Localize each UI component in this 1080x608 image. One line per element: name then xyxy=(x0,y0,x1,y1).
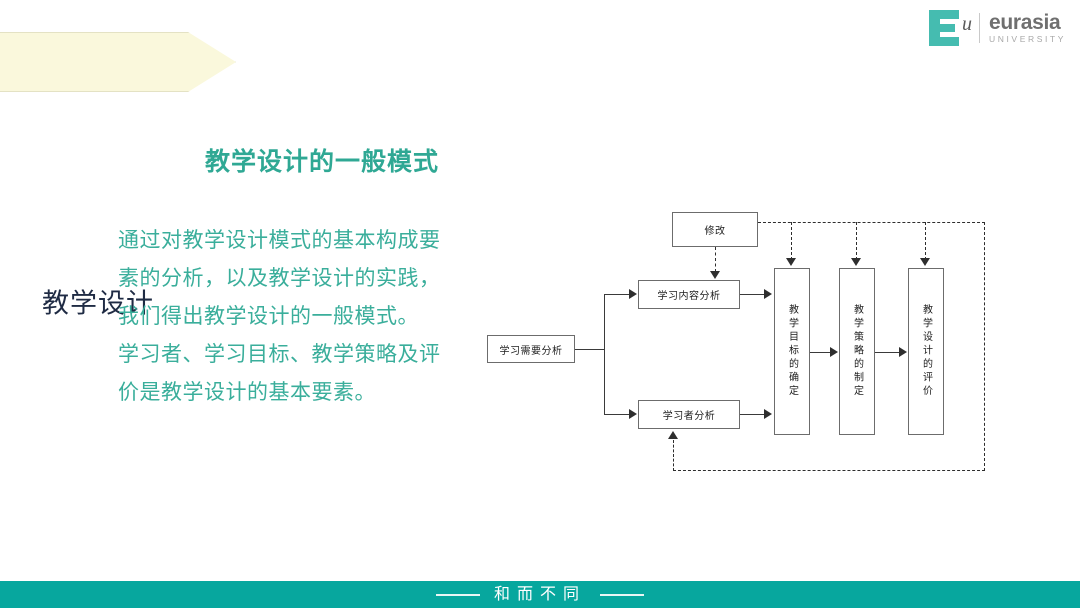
flow-node-revise: 修改 xyxy=(672,212,758,247)
flow-edge-needs-to-bus xyxy=(575,349,605,350)
footer-rule-right xyxy=(600,594,644,596)
flow-dashed-drop-evaluation xyxy=(925,222,926,260)
flow-arrow-goal-to-strategy xyxy=(830,347,838,357)
flow-edge-goal-to-strategy xyxy=(810,352,832,353)
flow-bus-vertical xyxy=(604,294,605,415)
flow-dashed-return-riser xyxy=(673,440,674,471)
footer-motto-group: 和而不同 xyxy=(436,587,644,603)
flow-node-learner-analysis: 学习者分析 xyxy=(638,400,740,429)
flow-arrow-strategy-to-evaluation xyxy=(899,347,907,357)
flow-node-goal-setting: 教学目标的确定 xyxy=(774,268,810,435)
flow-node-needs-analysis: 学习需要分析 xyxy=(487,335,575,363)
content-heading: 教学设计的一般模式 xyxy=(205,142,439,178)
flow-dashed-drop-strategy xyxy=(856,222,857,260)
footer-motto: 和而不同 xyxy=(494,587,586,603)
logo-name: eurasia xyxy=(989,12,1066,33)
logo-divider xyxy=(979,13,980,43)
flow-dashed-revise-to-content xyxy=(715,247,716,272)
slide-title-banner xyxy=(0,32,236,92)
flow-node-strategy-design: 教学策略的制定 xyxy=(839,268,875,435)
flow-arrow-drop-strategy xyxy=(851,258,861,266)
slide-canvas: 教学设计 u eurasia UNIVERSITY 教学设计的一般模式 通过对教… xyxy=(0,0,1080,608)
flow-dashed-top-bus xyxy=(758,222,985,223)
flow-dashed-drop-goal xyxy=(791,222,792,260)
instructional-design-flowchart: 修改 学习内容分析 学习需要分析 学习者分析 教学目标的确定 教学策略的制定 教… xyxy=(470,195,1010,495)
flow-arrow-learner-to-goal xyxy=(764,409,772,419)
logo-subtitle: UNIVERSITY xyxy=(989,35,1066,44)
logo-u-letter: u xyxy=(962,14,972,34)
logo-e-mark-icon xyxy=(929,10,959,46)
flow-dashed-right-riser xyxy=(984,222,985,471)
flow-arrow-drop-evaluation xyxy=(920,258,930,266)
body-paragraph-2: 学习者、学习目标、教学策略及评价是教学设计的基本要素。 xyxy=(118,336,454,412)
flow-arrow-revise-to-content xyxy=(710,271,720,279)
content-body: 通过对教学设计模式的基本构成要素的分析，以及教学设计的实践，我们得出教学设计的一… xyxy=(118,222,454,412)
flow-dashed-bottom-return xyxy=(673,470,985,471)
flow-edge-bus-to-content xyxy=(604,294,630,295)
flow-arrow-to-learner-analysis xyxy=(629,409,637,419)
flow-arrow-drop-goal xyxy=(786,258,796,266)
footer-rule-left xyxy=(436,594,480,596)
body-paragraph-1: 通过对教学设计模式的基本构成要素的分析，以及教学设计的实践，我们得出教学设计的一… xyxy=(118,222,454,336)
flow-arrow-content-to-goal xyxy=(764,289,772,299)
flow-arrow-to-content-analysis xyxy=(629,289,637,299)
logo-wordmark: eurasia UNIVERSITY xyxy=(989,12,1066,44)
flow-edge-strategy-to-evaluation xyxy=(875,352,900,353)
flow-edge-bus-to-learner xyxy=(604,414,630,415)
flow-arrow-return-to-learner xyxy=(668,431,678,439)
flow-node-design-evaluation: 教学设计的评价 xyxy=(908,268,944,435)
flow-node-content-analysis: 学习内容分析 xyxy=(638,280,740,309)
slide-footer: 和而不同 xyxy=(0,581,1080,608)
flow-edge-learner-to-goal xyxy=(740,414,765,415)
flow-edge-content-to-goal xyxy=(740,294,765,295)
brand-logo: u eurasia UNIVERSITY xyxy=(929,8,1066,48)
